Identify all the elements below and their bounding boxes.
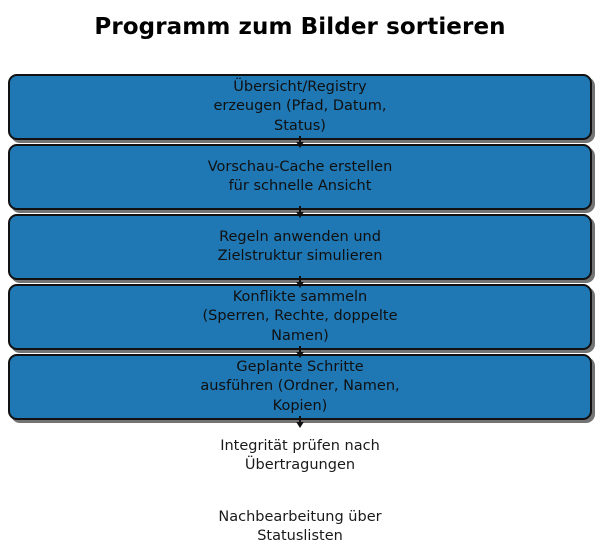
flow-node-conflicts[interactable]: Konflikte sammeln (Sperren, Rechte, dopp…: [8, 284, 592, 350]
flow-node-registry-wrap: Übersicht/Registry erzeugen (Pfad, Datum…: [0, 74, 600, 140]
page-title: Programm zum Bilder sortieren: [0, 14, 600, 40]
flow-node-stack: Übersicht/Registry erzeugen (Pfad, Datum…: [0, 74, 600, 420]
flow-node-execute-wrap: Geplante Schritte ausführen (Ordner, Nam…: [0, 354, 600, 420]
flow-node-postprocess[interactable]: Nachbearbeitung über Statuslisten: [0, 508, 600, 547]
flow-node-registry[interactable]: Übersicht/Registry erzeugen (Pfad, Datum…: [8, 74, 592, 140]
flow-node-integrity[interactable]: Integrität prüfen nach Übertragungen: [0, 437, 600, 476]
flow-node-conflicts-wrap: Konflikte sammeln (Sperren, Rechte, dopp…: [0, 284, 600, 350]
flow-node-preview-cache-wrap: Vorschau-Cache erstellen für schnelle An…: [0, 144, 600, 210]
flowchart-diagram: Programm zum Bilder sortieren Übersicht/…: [0, 0, 600, 553]
flow-node-preview-cache[interactable]: Vorschau-Cache erstellen für schnelle An…: [8, 144, 592, 210]
flow-node-rules-wrap: Regeln anwenden und Zielstruktur simulie…: [0, 214, 600, 280]
flow-node-rules[interactable]: Regeln anwenden und Zielstruktur simulie…: [8, 214, 592, 280]
flow-node-execute[interactable]: Geplante Schritte ausführen (Ordner, Nam…: [8, 354, 592, 420]
